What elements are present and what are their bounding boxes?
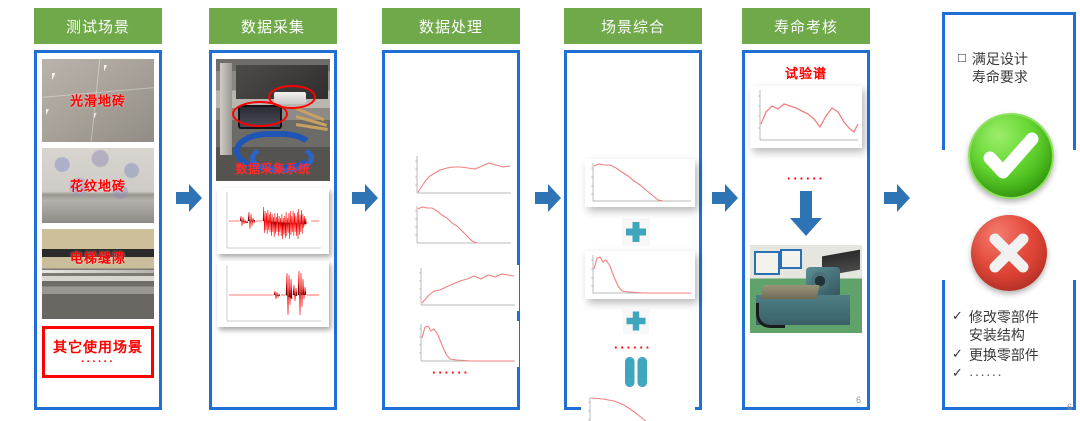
flow-diagram: 测试场景 光滑地砖 花纹地砖 电梯缝隙 其它使用场景 ······: [0, 0, 1080, 421]
chart-test-spectrum: [750, 86, 862, 148]
flow-arrow-2: [352, 183, 378, 213]
flow-arrow-3: [535, 183, 561, 213]
stage-data-processing: 数据处理: [382, 8, 520, 410]
page-number-right: 6: [1067, 402, 1072, 412]
photo-label-elevator-gap: 电梯缝隙: [42, 247, 154, 266]
data-processing-ellipsis: ······: [385, 366, 517, 379]
photo-texture-elevator-gap: [42, 229, 154, 319]
chart-synth-plot-b: [585, 251, 695, 299]
waveform-card-dense: [217, 188, 329, 254]
photo-wall-panel-1: [754, 251, 780, 275]
stage-header-life-assessment: 寿命考核: [742, 8, 870, 44]
chart-proc-plot-4: [413, 321, 519, 367]
stage-body-data-acquisition: 数据采集系统: [209, 50, 337, 410]
photo-smooth-floor-tile: 光滑地砖: [42, 59, 154, 142]
result-panel: □ 满足设计 寿命要求 ✓ 修改零部件 安装结构: [936, 8, 1076, 413]
stage-test-scenario: 测试场景 光滑地砖 花纹地砖 电梯缝隙 其它使用场景 ······: [34, 8, 162, 410]
waveform-card-sparse: [217, 261, 329, 327]
stage-body-scenario-synthesis: ······: [564, 50, 702, 410]
stage-header-test-scenario: 测试场景: [34, 8, 162, 44]
synthesis-ellipsis: ······: [567, 341, 699, 354]
stage-life-assessment: 寿命考核 试验谱 ······: [742, 8, 870, 410]
test-spectrum-title: 试验谱: [745, 63, 867, 82]
stage-data-acquisition: 数据采集 数据采集系统: [209, 8, 337, 410]
other-scenario-label: 其它使用场景: [53, 337, 143, 357]
result-fail-list: ✓ 修改零部件 安装结构 ✓ 更换零部件 ✓ ······: [952, 308, 1076, 384]
photo-rail: [220, 63, 232, 155]
list-item: ✓ ······: [952, 365, 1076, 383]
check-badge-icon: [968, 113, 1054, 199]
chart-synth-plot-a: [585, 159, 695, 207]
flow-arrow-5: [884, 183, 910, 213]
flow-arrow-4: [712, 183, 738, 213]
other-scenario-ellipsis: ······: [81, 357, 115, 368]
stage-body-life-assessment: 试验谱 ······: [742, 50, 870, 410]
photo-machine-cable: [756, 303, 785, 328]
page-number-left: 6: [856, 395, 861, 405]
result-fail-item-3: ······: [969, 365, 1003, 383]
photo-label-patterned-tile: 花纹地砖: [42, 175, 154, 194]
photo-elevator-gap: 电梯缝隙: [42, 229, 154, 319]
list-item: ✓ 修改零部件 安装结构: [952, 308, 1076, 345]
check-icon: ✓: [952, 308, 963, 345]
result-fail-item-1-line-2: 安装结构: [969, 327, 1025, 343]
stage-header-data-acquisition: 数据采集: [209, 8, 337, 44]
stage-body-test-scenario: 光滑地砖 花纹地砖 电梯缝隙 其它使用场景 ······: [34, 50, 162, 410]
flow-arrow-down: [789, 191, 823, 237]
result-fail-item-1-line-1: 修改零部件: [969, 309, 1039, 325]
result-pass-text: □ 满足设计 寿命要求: [958, 50, 1076, 87]
list-item: ✓ 更换零部件: [952, 346, 1076, 364]
check-icon: ✓: [952, 346, 963, 364]
result-fail-item-2: 更换零部件: [969, 346, 1039, 364]
photo-patterned-floor-tile: 花纹地砖: [42, 148, 154, 223]
operator-plus-2: [623, 308, 649, 334]
operator-equals: [622, 356, 650, 388]
photo-label-smooth-tile: 光滑地砖: [42, 90, 154, 109]
chart-proc-plot-2: [409, 203, 515, 249]
result-pass-bullet: □: [958, 50, 966, 87]
highlight-ellipse-tablet: [232, 101, 288, 127]
result-fail-item-1: 修改零部件 安装结构: [969, 308, 1039, 345]
photo-caption-daq: 数据采集系统: [216, 160, 330, 177]
chart-proc-plot-3: [413, 265, 519, 311]
photo-vibration-test-bench: [750, 245, 862, 333]
stage-header-scenario-synthesis: 场景综合: [564, 8, 702, 44]
other-scenario-box: 其它使用场景 ······: [42, 326, 154, 378]
result-pass-lines: 满足设计 寿命要求: [972, 50, 1028, 87]
life-assessment-ellipsis: ······: [745, 172, 867, 185]
stage-body-data-processing: ······: [382, 50, 520, 410]
photo-machine-plate: [761, 285, 820, 299]
stage-scenario-synthesis: 场景综合: [564, 8, 702, 410]
photo-data-acquisition-system: 数据采集系统: [216, 59, 330, 181]
result-pass-line-1: 满足设计: [972, 51, 1028, 67]
stage-header-data-processing: 数据处理: [382, 8, 520, 44]
flow-arrow-1: [176, 183, 202, 213]
photo-wall-panel-2: [780, 249, 802, 269]
chart-synth-plot-result: [581, 393, 695, 421]
chart-proc-plot-1: [409, 153, 515, 199]
result-pass-line-2: 寿命要求: [972, 69, 1028, 85]
check-icon: ✓: [952, 365, 963, 383]
operator-plus-1: [622, 218, 650, 246]
